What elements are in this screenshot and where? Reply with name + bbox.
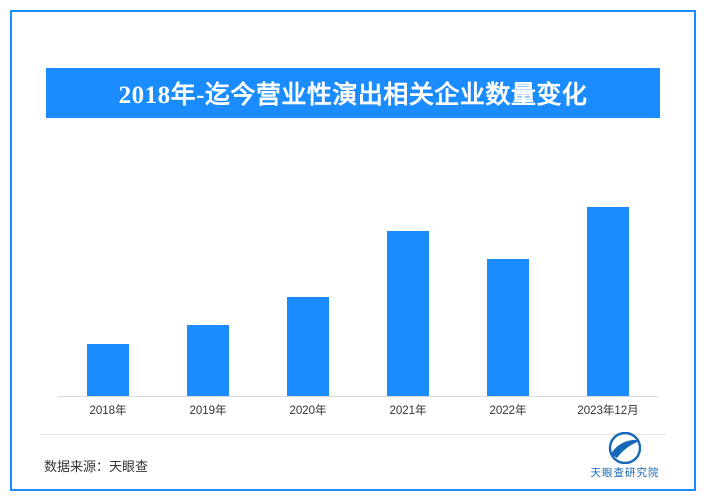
bar-column <box>258 160 358 396</box>
eye-swoosh-logo-icon <box>604 432 646 464</box>
bar-column <box>158 160 258 396</box>
x-axis-labels: 2018年 2019年 2020年 2021年 2022年 2023年12月 <box>58 402 658 418</box>
bar-column <box>58 160 158 396</box>
x-axis-line <box>58 396 658 397</box>
data-source-text: 数据来源：天眼查 <box>44 456 148 475</box>
bar-2018 <box>87 344 129 396</box>
bar-column <box>358 160 458 396</box>
bar-2020 <box>287 297 329 396</box>
bar-2022 <box>487 259 529 396</box>
bar-column <box>558 160 658 396</box>
chart-page: 2018年-迄今营业性演出相关企业数量变化 2018年 2019年 2020年 … <box>0 0 706 501</box>
bar-2023-12 <box>587 207 629 396</box>
x-label: 2020年 <box>258 402 358 418</box>
x-label: 2022年 <box>458 402 558 418</box>
bar-2019 <box>187 325 229 396</box>
chart-title-bar: 2018年-迄今营业性演出相关企业数量变化 <box>46 68 660 118</box>
bar-series <box>58 160 658 396</box>
page-title: 2018年-迄今营业性演出相关企业数量变化 <box>119 75 588 111</box>
bar-2021 <box>387 231 429 396</box>
x-label: 2019年 <box>158 402 258 418</box>
logo-label: 天眼查研究院 <box>586 465 664 480</box>
brand-logo: 天眼查研究院 <box>586 432 664 480</box>
bar-column <box>458 160 558 396</box>
x-label: 2018年 <box>58 402 158 418</box>
x-label: 2023年12月 <box>558 402 658 418</box>
footer-divider <box>40 434 666 435</box>
x-label: 2021年 <box>358 402 458 418</box>
